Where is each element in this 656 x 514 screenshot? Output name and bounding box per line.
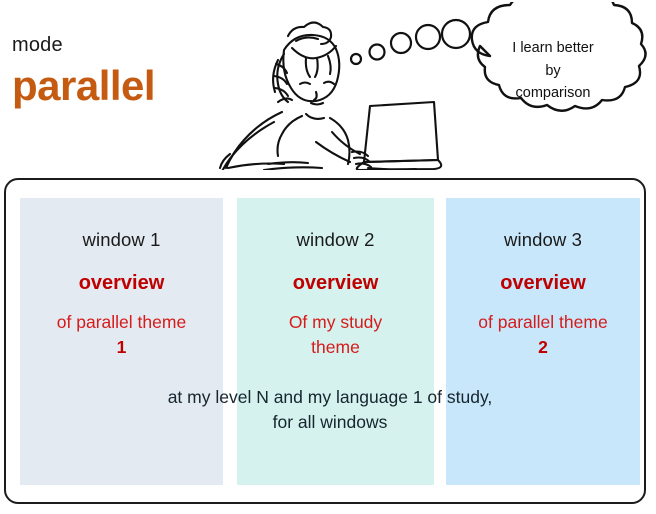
window-column-3[interactable]: window 3 overview of parallel theme 2 bbox=[446, 198, 640, 485]
window-1-title: window 1 bbox=[20, 229, 223, 251]
window-1-heading: overview bbox=[20, 272, 223, 295]
window-3-subtitle-text: of parallel theme bbox=[478, 312, 607, 332]
thought-bubble-icon: I learn better by comparison bbox=[452, 2, 654, 134]
window-3-emphasis: 2 bbox=[452, 336, 634, 359]
window-2-subtitle: Of my study theme bbox=[237, 311, 434, 359]
window-column-2[interactable]: window 2 overview Of my study theme bbox=[237, 198, 434, 485]
windows-panel: window 1 overview of parallel theme 1 wi… bbox=[4, 178, 646, 504]
window-2-emphasis: theme bbox=[243, 336, 428, 359]
window-2-title: window 2 bbox=[237, 229, 434, 251]
window-3-subtitle: of parallel theme 2 bbox=[446, 311, 640, 359]
window-3-title: window 3 bbox=[446, 229, 640, 251]
window-1-subtitle-text: of parallel theme bbox=[57, 312, 186, 332]
window-column-1[interactable]: window 1 overview of parallel theme 1 bbox=[20, 198, 223, 485]
window-3-heading: overview bbox=[446, 272, 640, 295]
mode-label: mode bbox=[12, 34, 63, 57]
window-2-heading: overview bbox=[237, 272, 434, 295]
window-1-subtitle: of parallel theme 1 bbox=[20, 311, 223, 359]
header-area: mode parallel bbox=[0, 0, 656, 172]
window-2-subtitle-text: Of my study bbox=[289, 312, 382, 332]
mode-value: parallel bbox=[12, 62, 155, 110]
window-1-emphasis: 1 bbox=[26, 336, 217, 359]
